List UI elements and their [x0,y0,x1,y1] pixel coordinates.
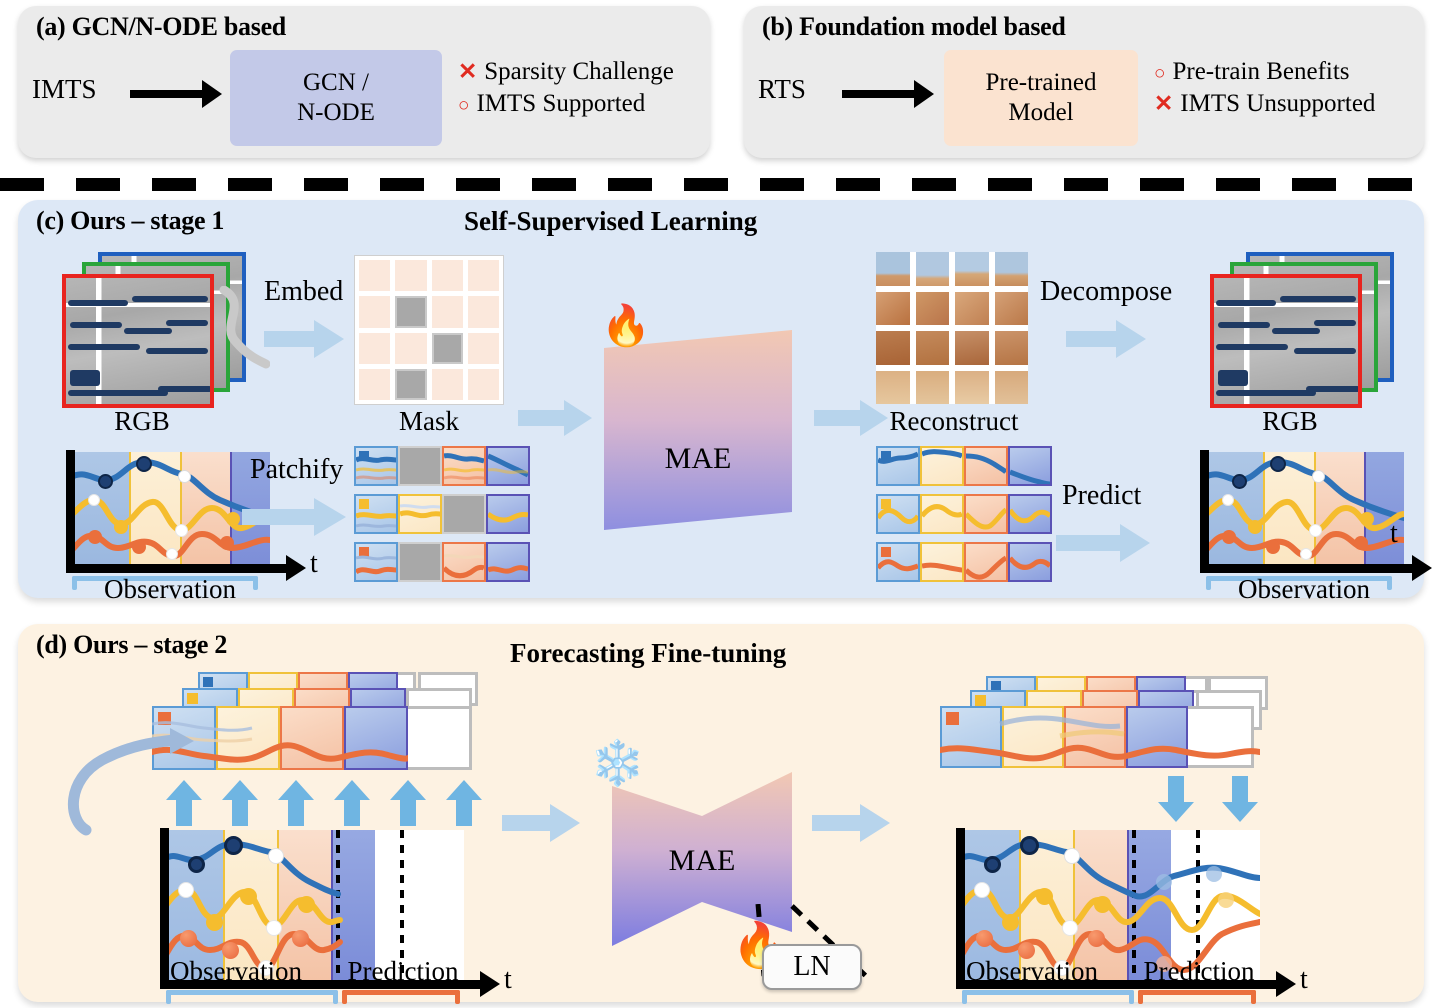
mask-cell [432,260,463,291]
data-point-missing [974,882,990,898]
prediction-range-bracket [342,990,460,1004]
label-prediction-right: Prediction [1114,956,1284,987]
label-prediction-left: Prediction [318,956,488,987]
rgb-output-stack [1204,252,1414,402]
step-label-patchify: Patchify [250,454,343,486]
token-stack-series-line [940,706,1260,770]
data-point [1094,896,1111,913]
caption-observation-input: Observation [60,574,280,605]
data-point [226,512,240,526]
chart-x-axis [1200,564,1414,573]
data-point-missing [266,920,282,936]
mask-cell [468,333,499,364]
observation-chart-output [1204,452,1404,564]
data-point-missing [1064,848,1080,864]
data-point [976,930,993,947]
data-point [1248,520,1262,534]
circle-icon: ○ [458,96,469,115]
panel-b-tag: (b) Foundation model based [762,12,1066,42]
panel-a-model-box: GCN / N-ODE [230,50,442,146]
data-point [98,474,113,489]
data-point [1002,914,1019,931]
caption-observation-output: Observation [1194,574,1414,605]
panel-d-tag: (d) Ours – stage 2 [36,630,227,660]
predicted-point [1218,892,1234,908]
section-divider [0,178,1442,191]
data-point [224,836,243,855]
panel-b-arrow-icon [842,80,934,108]
data-point [1232,474,1247,489]
mask-cell [432,296,463,327]
masked-patch [398,542,442,582]
chart-x-axis [66,564,288,573]
mask-cell-masked [432,333,463,364]
recon-patch-strip-yellow [876,494,1052,534]
data-point-missing [1312,470,1325,483]
data-point [240,888,257,905]
embed-connector-icon [214,286,270,378]
data-point [114,520,128,534]
x-axis-label: t [504,964,512,996]
data-point [1020,836,1039,855]
data-point-missing [166,548,178,560]
data-point [1222,530,1236,544]
data-point-missing [178,470,191,483]
mae-model-stage1: MAE [604,330,792,530]
mask-cell [359,260,390,291]
data-point [180,930,197,947]
panel-a-bullet-1: ○ IMTS Supported [458,90,674,118]
caption-mask: Mask [354,406,504,437]
data-point-missing [1062,920,1078,936]
panel-c-stage-1: (c) Ours – stage 1 Self-Supervised Learn… [18,200,1424,598]
x-axis-arrow-icon [286,555,306,581]
patch-strip-blue [354,446,530,486]
mask-cell-masked [395,369,426,400]
ln-module-box[interactable]: LN [762,944,862,990]
recon-patch-strip-blue [876,446,1052,486]
reconstructed-image-grid [876,252,1028,404]
x-axis-label: t [1390,518,1398,550]
x-axis-label: t [310,548,318,580]
data-point [1088,930,1105,947]
data-point [298,896,315,913]
panel-b-bullet-list: ○ Pre-train Benefits ✕ IMTS Unsupported [1154,58,1375,118]
data-point [188,856,205,873]
data-point-missing [88,494,100,506]
circle-icon: ○ [1154,64,1165,83]
panel-b-model-line2: Model [1008,98,1073,129]
arrow-embed-icon [264,320,344,358]
panel-a-input-label: IMTS [32,74,97,105]
data-point [220,536,234,550]
label-observation-right: Observation [932,956,1132,987]
mask-cell [359,333,390,364]
mask-cell-masked [395,296,426,327]
mask-cell [432,369,463,400]
data-point [88,530,102,544]
data-point-missing [178,882,194,898]
data-point-missing [1300,548,1312,560]
data-point [206,914,223,931]
snowflake-icon: ❄️ [590,742,645,786]
data-point-missing [1222,494,1234,506]
panel-a-bullet-1-text: IMTS Supported [476,90,645,118]
panel-a-tag: (a) GCN/N-ODE based [36,12,286,42]
mae-label-stage1: MAE [604,442,792,476]
mask-cell [395,333,426,364]
panel-b-bullet-1: ✕ IMTS Unsupported [1154,90,1375,118]
data-point [1360,512,1374,526]
panel-d-title: Forecasting Fine-tuning [510,638,786,669]
arrow-patchify-icon [242,498,346,536]
data-point [984,856,1001,873]
recon-patch-strip-orange [876,542,1052,582]
data-point-missing [1309,524,1322,537]
caption-rgb-output: RGB [1210,406,1370,437]
panel-c-title: Self-Supervised Learning [464,206,757,237]
arrow-decompose-icon [1066,320,1146,358]
x-axis-arrow-icon [1412,555,1432,581]
mask-cell [468,369,499,400]
data-point [292,930,309,947]
patch-strip-yellow [354,494,530,534]
fire-icon: 🔥 [601,306,651,346]
predicted-point [1206,866,1222,882]
panel-b-bullet-0-text: Pre-train Benefits [1172,58,1349,86]
x-axis-label: t [1300,964,1308,996]
panel-a-bullet-0-text: Sparsity Challenge [484,58,674,86]
panel-c-tag: (c) Ours – stage 1 [36,206,224,236]
data-point [1354,536,1368,550]
step-label-predict: Predict [1062,480,1141,512]
mask-grid [354,255,504,405]
arrow-to-mae-icon [518,400,592,436]
panel-a-bullet-list: ✕ Sparsity Challenge ○ IMTS Supported [458,58,674,118]
mask-cell [395,260,426,291]
mask-cell [359,369,390,400]
downward-arrow-group [1158,776,1278,827]
rgb-layer-red [62,274,214,408]
panel-b-input-label: RTS [758,74,806,105]
panel-a-model-line1: GCN / [303,68,369,99]
observation-range-bracket [962,990,1134,1004]
panel-b-model-line1: Pre-trained [985,68,1096,99]
cross-icon: ✕ [458,60,477,83]
rgb-layer-red [1210,274,1362,408]
mae-label-stage2: MAE [612,844,792,878]
arrow-from-mae-icon-d [812,804,890,842]
data-point [132,540,146,554]
data-point-missing [175,524,188,537]
patch-strip-orange [354,542,530,582]
arrow-to-mae-icon-d [502,804,580,842]
data-point [1266,540,1280,554]
data-point-missing [268,848,284,864]
mask-cell [468,260,499,291]
panel-a-model-line2: N-ODE [297,98,375,129]
panel-b-bullet-1-text: IMTS Unsupported [1180,90,1375,118]
panel-a-gcn-node: (a) GCN/N-ODE based IMTS GCN / N-ODE ✕ S… [18,6,710,158]
chart-y-axis [1200,450,1209,570]
caption-rgb-input: RGB [62,406,222,437]
step-label-decompose: Decompose [1040,276,1172,308]
prediction-range-bracket [1138,990,1256,1004]
data-point [1270,456,1286,472]
cross-icon: ✕ [1154,92,1173,115]
predicted-point [1156,874,1172,890]
token-stack-output [940,674,1270,774]
panel-b-foundation-model: (b) Foundation model based RTS Pre-train… [744,6,1424,158]
masked-patch [398,446,442,486]
masked-patch [442,494,486,534]
panel-b-model-box: Pre-trained Model [944,50,1138,146]
panel-a-bullet-0: ✕ Sparsity Challenge [458,58,674,86]
panel-d-stage-2: (d) Ours – stage 2 Forecasting Fine-tuni… [18,624,1424,1002]
mask-cell [468,296,499,327]
panel-b-bullet-0: ○ Pre-train Benefits [1154,58,1375,86]
caption-reconstruct: Reconstruct [854,406,1054,437]
mask-cell [359,296,390,327]
chart-y-axis [66,450,75,570]
upward-arrow-group [166,780,486,831]
observation-chart-input [70,452,270,564]
observation-range-bracket [166,990,338,1004]
panel-a-arrow-icon [130,80,222,108]
step-label-embed: Embed [264,276,343,308]
data-point [136,456,152,472]
label-observation-left: Observation [136,956,336,987]
arrow-predict-icon [1056,524,1150,562]
data-point [1036,888,1053,905]
